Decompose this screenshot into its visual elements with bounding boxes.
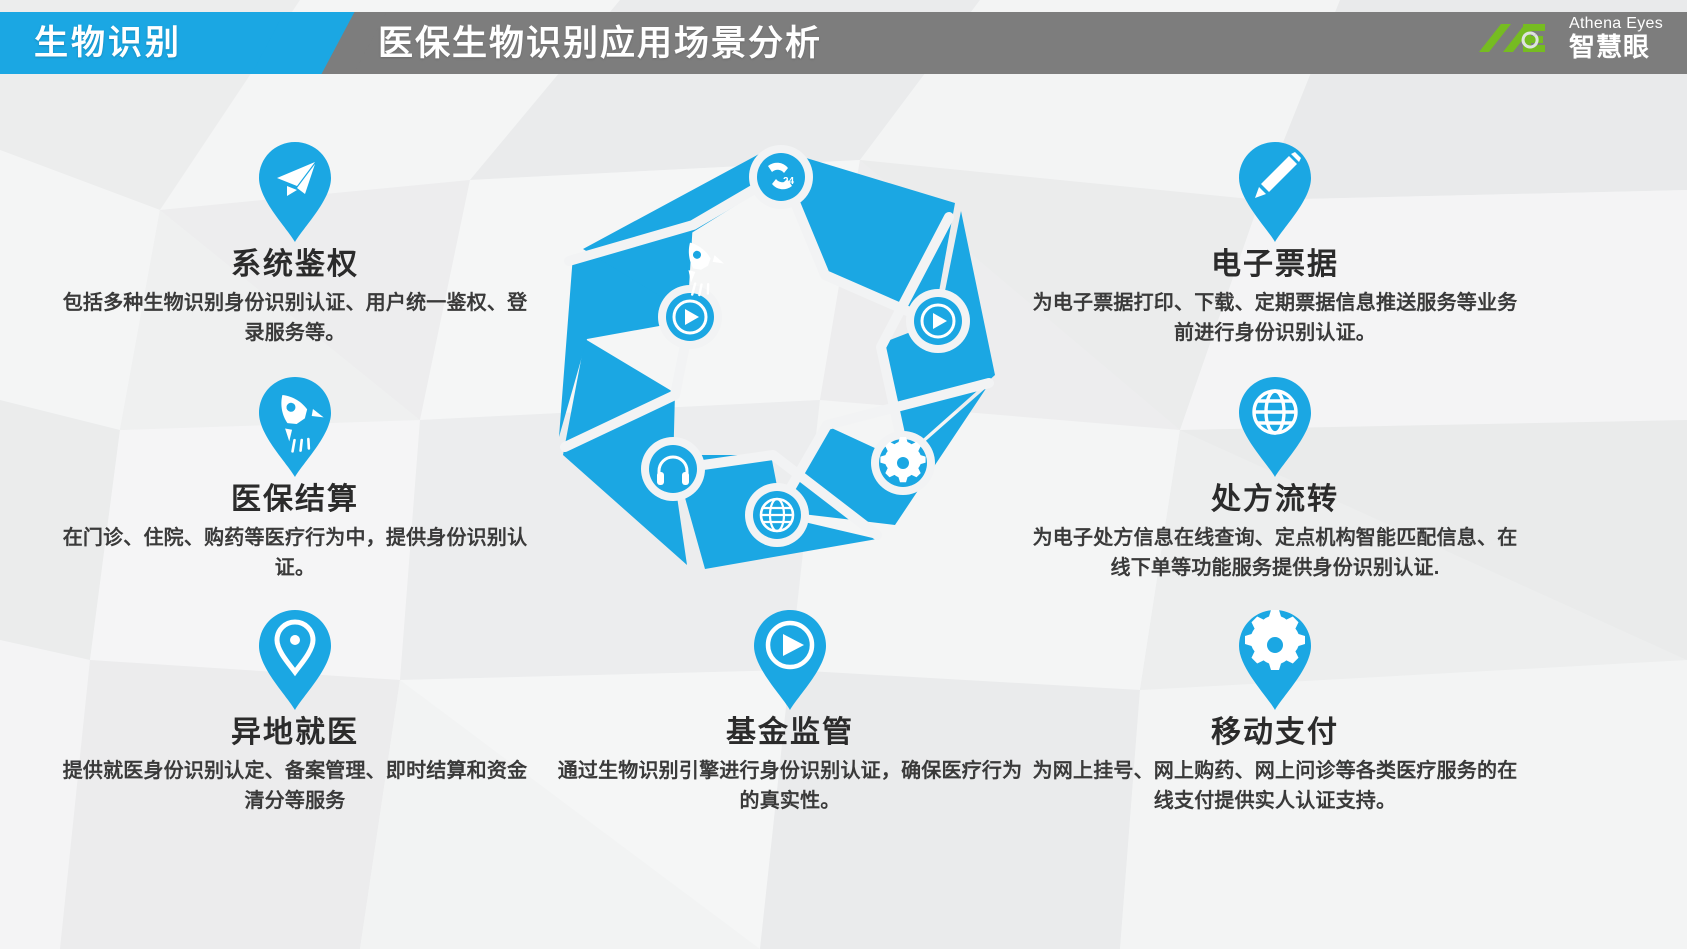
- rocket-icon: [253, 375, 337, 479]
- play-circle-icon: [748, 608, 832, 712]
- brand-logo: Athena Eyes 智慧眼: [1477, 16, 1663, 60]
- card-description: 提供就医身份识别认定、备案管理、即时结算和资金清分等服务: [60, 756, 530, 816]
- logo-chinese-name: 智慧眼: [1569, 34, 1663, 60]
- card-mobile-pay: 移动支付 为网上挂号、网上购药、网上问诊等各类医疗服务的在线支付提供实人认证支持…: [1030, 608, 1520, 816]
- card-description: 通过生物识别引擎进行身份识别认证，确保医疗行为的真实性。: [555, 756, 1025, 816]
- card-system-auth: 系统鉴权 包括多种生物识别身份识别认证、用户统一鉴权、登录服务等。: [60, 140, 530, 348]
- ae-monogram-icon: [1477, 18, 1561, 58]
- card-description: 在门诊、住院、购药等医疗行为中，提供身份识别认证。: [60, 523, 530, 583]
- card-settlement: 医保结算 在门诊、住院、购药等医疗行为中，提供身份识别认证。: [60, 375, 530, 583]
- card-remote-care: 异地就医 提供就医身份识别认定、备案管理、即时结算和资金清分等服务: [60, 608, 530, 816]
- logo-english-name: Athena Eyes: [1569, 16, 1663, 32]
- svg-text:24: 24: [783, 176, 795, 187]
- gear-icon: [1233, 608, 1317, 712]
- card-title: 移动支付: [1030, 714, 1520, 752]
- card-e-invoice: 电子票据 为电子票据打印、下载、定期票据信息推送服务等业务前进行身份识别认证。: [1030, 140, 1520, 348]
- hexagonal-pinwheel-diagram: 24: [525, 125, 1015, 595]
- card-title: 系统鉴权: [60, 246, 530, 284]
- card-title: 异地就医: [60, 714, 530, 752]
- pencil-icon: [1233, 140, 1317, 244]
- card-description: 为网上挂号、网上购药、网上问诊等各类医疗服务的在线支付提供实人认证支持。: [1030, 756, 1520, 816]
- card-fund-supervise: 基金监管 通过生物识别引擎进行身份识别认证，确保医疗行为的真实性。: [555, 608, 1025, 816]
- paper-plane-icon: [253, 140, 337, 244]
- card-description: 为电子票据打印、下载、定期票据信息推送服务等业务前进行身份识别认证。: [1030, 288, 1520, 348]
- globe-icon: [1233, 375, 1317, 479]
- card-description: 包括多种生物识别身份识别认证、用户统一鉴权、登录服务等。: [60, 288, 530, 348]
- page-title: 医保生物识别应用场景分析: [378, 21, 822, 67]
- card-title: 基金监管: [555, 714, 1025, 752]
- page-header: 生物识别 医保生物识别应用场景分析: [0, 12, 1687, 74]
- card-description: 为电子处方信息在线查询、定点机构智能匹配信息、在线下单等功能服务提供身份识别认证…: [1030, 523, 1520, 583]
- card-title: 医保结算: [60, 481, 530, 519]
- section-badge-label: 生物识别: [34, 24, 182, 62]
- card-prescription: 处方流转 为电子处方信息在线查询、定点机构智能匹配信息、在线下单等功能服务提供身…: [1030, 375, 1520, 583]
- location-pin-icon: [253, 608, 337, 712]
- card-title: 处方流转: [1030, 481, 1520, 519]
- card-title: 电子票据: [1030, 246, 1520, 284]
